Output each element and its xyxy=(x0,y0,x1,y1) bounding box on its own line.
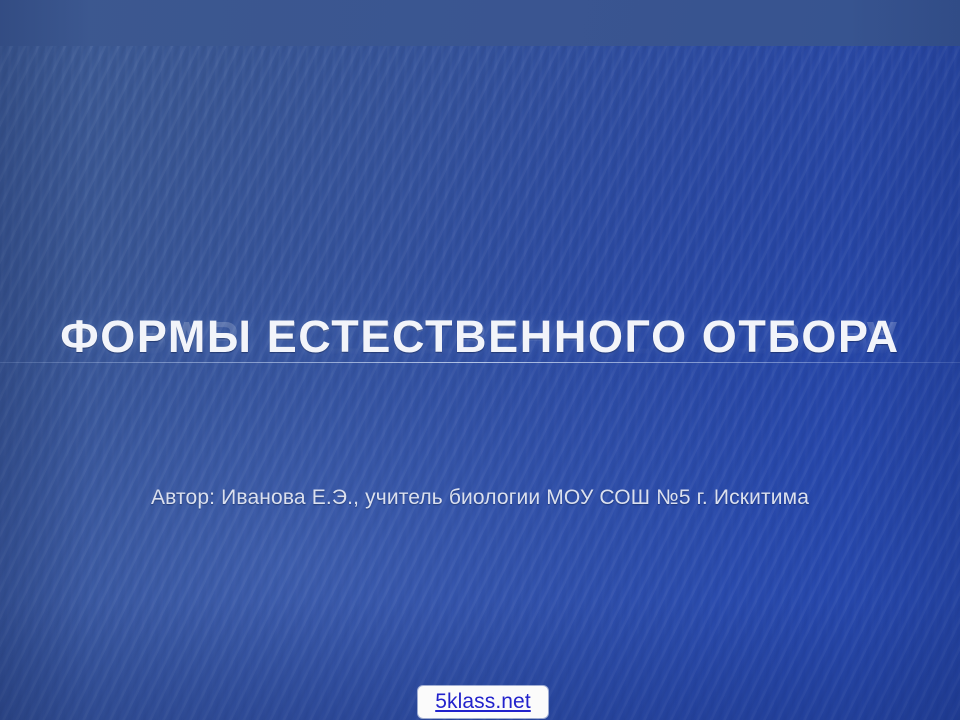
slide-content: Формы естественного отбора Формы естеств… xyxy=(0,0,960,720)
title-divider-rule xyxy=(0,362,960,363)
slide-title: Формы естественного отбора xyxy=(0,312,960,362)
title-slide: Формы естественного отбора Формы естеств… xyxy=(0,0,960,720)
watermark-link[interactable]: 5klass.net xyxy=(435,690,531,714)
title-block: Формы естественного отбора Формы естеств… xyxy=(0,312,960,362)
slide-subtitle: Автор: Иванова Е.Э., учитель биологии МО… xyxy=(0,484,960,511)
watermark-badge[interactable]: 5klass.net xyxy=(418,686,548,718)
